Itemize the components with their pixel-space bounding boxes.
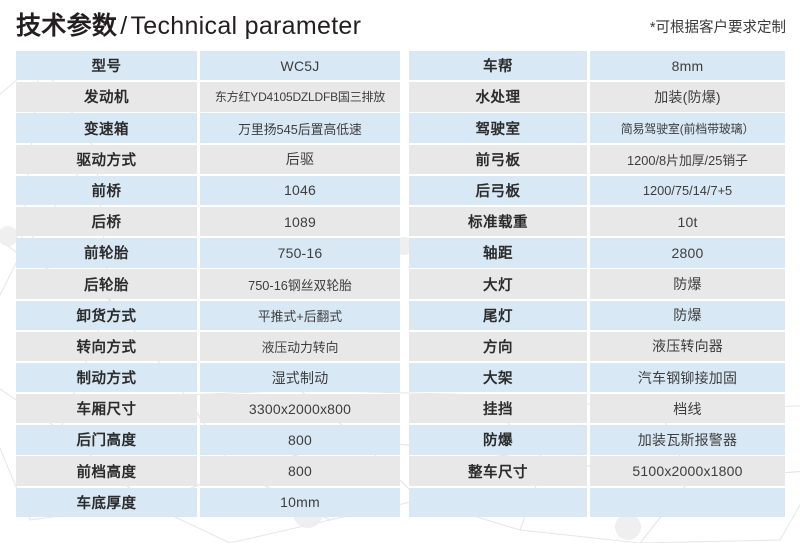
page-title-cn: 技术参数 — [16, 12, 117, 40]
spec-label: 驾驶室 — [409, 113, 587, 142]
spec-tables: 型号WC5J 发动机东方红YD4105DZLDFB国三排放 变速箱万里扬545后… — [16, 51, 785, 519]
table-row: 发动机东方红YD4105DZLDFB国三排放 — [16, 82, 400, 113]
spec-label: 挂挡 — [409, 394, 587, 423]
spec-label: 防爆 — [409, 425, 587, 454]
spec-label: 发动机 — [16, 82, 197, 111]
spec-label: 车厢尺寸 — [16, 394, 197, 423]
spec-label: 轴距 — [409, 238, 587, 267]
spec-label: 前弓板 — [409, 145, 587, 174]
table-row: 标准载重10t — [409, 207, 785, 238]
table-row: 驾驶室简易驾驶室(前档带玻璃） — [409, 113, 785, 144]
table-row: 车厢尺寸3300x2000x800 — [16, 394, 400, 425]
spec-value: 湿式制动 — [200, 363, 400, 392]
spec-value: 1200/75/14/7+5 — [590, 176, 785, 205]
spec-value: 750-16 — [200, 238, 400, 267]
table-row: 前档高度800 — [16, 456, 400, 487]
spec-label: 驱动方式 — [16, 145, 197, 174]
spec-label: 变速箱 — [16, 113, 197, 142]
spec-label: 前档高度 — [16, 456, 197, 485]
spec-value: 液压动力转向 — [200, 332, 400, 361]
spec-value — [590, 488, 785, 517]
spec-label: 大灯 — [409, 269, 587, 298]
table-row: 前轮胎750-16 — [16, 238, 400, 269]
spec-value: 1200/8片加厚/25销子 — [590, 145, 785, 174]
table-row-empty — [409, 488, 785, 519]
spec-value: 750-16钢丝双轮胎 — [200, 269, 400, 298]
table-row: 前桥1046 — [16, 176, 400, 207]
spec-label — [409, 488, 587, 517]
spec-label: 前桥 — [16, 176, 197, 205]
table-row: 轴距2800 — [409, 238, 785, 269]
spec-value: 东方红YD4105DZLDFB国三排放 — [200, 82, 400, 111]
page-title-separator: / — [117, 12, 130, 40]
spec-value: 后驱 — [200, 145, 400, 174]
table-row: 挂挡档线 — [409, 394, 785, 425]
spec-label: 转向方式 — [16, 332, 197, 361]
page-header: 技术参数/Technical parameter *可根据客户要求定制 — [16, 4, 786, 48]
spec-label: 后门高度 — [16, 425, 197, 454]
spec-label: 后轮胎 — [16, 269, 197, 298]
spec-value: 平推式+后翻式 — [200, 301, 400, 330]
spec-value: 简易驾驶室(前档带玻璃） — [590, 113, 785, 142]
spec-label: 后弓板 — [409, 176, 587, 205]
spec-label: 前轮胎 — [16, 238, 197, 267]
table-row: 驱动方式后驱 — [16, 145, 400, 176]
spec-value: 1046 — [200, 176, 400, 205]
table-row: 型号WC5J — [16, 51, 400, 82]
spec-label: 后桥 — [16, 207, 197, 236]
spec-value: 液压转向器 — [590, 332, 785, 361]
spec-label: 方向 — [409, 332, 587, 361]
spec-value: 2800 — [590, 238, 785, 267]
technical-parameter-page: 技术参数/Technical parameter *可根据客户要求定制 型号WC… — [0, 0, 800, 543]
spec-value: 3300x2000x800 — [200, 394, 400, 423]
spec-value: 加装瓦斯报警器 — [590, 425, 785, 454]
table-row: 大架汽车钢铆接加固 — [409, 363, 785, 394]
customization-note: *可根据客户要求定制 — [650, 16, 786, 37]
spec-label: 标准载重 — [409, 207, 587, 236]
spec-label: 整车尺寸 — [409, 456, 587, 485]
spec-value: WC5J — [200, 51, 400, 80]
table-row: 尾灯防爆 — [409, 301, 785, 332]
spec-value: 档线 — [590, 394, 785, 423]
spec-value: 1089 — [200, 207, 400, 236]
table-row: 卸货方式平推式+后翻式 — [16, 301, 400, 332]
table-row: 水处理加装(防爆) — [409, 82, 785, 113]
spec-value: 加装(防爆) — [590, 82, 785, 111]
spec-value: 10t — [590, 207, 785, 236]
spec-value: 汽车钢铆接加固 — [590, 363, 785, 392]
table-row: 转向方式液压动力转向 — [16, 332, 400, 363]
table-row: 后轮胎750-16钢丝双轮胎 — [16, 269, 400, 300]
table-row: 车底厚度10mm — [16, 488, 400, 519]
spec-label: 制动方式 — [16, 363, 197, 392]
spec-table-left: 型号WC5J 发动机东方红YD4105DZLDFB国三排放 变速箱万里扬545后… — [16, 51, 400, 519]
spec-value: 防爆 — [590, 269, 785, 298]
spec-value: 5100x2000x1800 — [590, 456, 785, 485]
table-row: 变速箱万里扬545后置高低速 — [16, 113, 400, 144]
table-row: 后桥1089 — [16, 207, 400, 238]
table-row: 方向液压转向器 — [409, 332, 785, 363]
table-row: 整车尺寸5100x2000x1800 — [409, 456, 785, 487]
spec-value: 10mm — [200, 488, 400, 517]
spec-value: 防爆 — [590, 301, 785, 330]
page-title: 技术参数/Technical parameter — [16, 6, 361, 42]
spec-label: 车帮 — [409, 51, 587, 80]
spec-label: 大架 — [409, 363, 587, 392]
spec-label: 尾灯 — [409, 301, 587, 330]
table-row: 前弓板1200/8片加厚/25销子 — [409, 145, 785, 176]
table-row: 防爆加装瓦斯报警器 — [409, 425, 785, 456]
spec-label: 车底厚度 — [16, 488, 197, 517]
spec-value: 万里扬545后置高低速 — [200, 113, 400, 142]
page-title-en: Technical parameter — [130, 12, 361, 40]
spec-value: 8mm — [590, 51, 785, 80]
table-row: 后门高度800 — [16, 425, 400, 456]
table-row: 后弓板1200/75/14/7+5 — [409, 176, 785, 207]
spec-table-right: 车帮8mm 水处理加装(防爆) 驾驶室简易驾驶室(前档带玻璃） 前弓板1200/… — [409, 51, 785, 519]
table-row: 车帮8mm — [409, 51, 785, 82]
spec-value: 800 — [200, 456, 400, 485]
table-row: 大灯防爆 — [409, 269, 785, 300]
table-row: 制动方式湿式制动 — [16, 363, 400, 394]
spec-value: 800 — [200, 425, 400, 454]
spec-label: 卸货方式 — [16, 301, 197, 330]
spec-label: 型号 — [16, 51, 197, 80]
spec-label: 水处理 — [409, 82, 587, 111]
